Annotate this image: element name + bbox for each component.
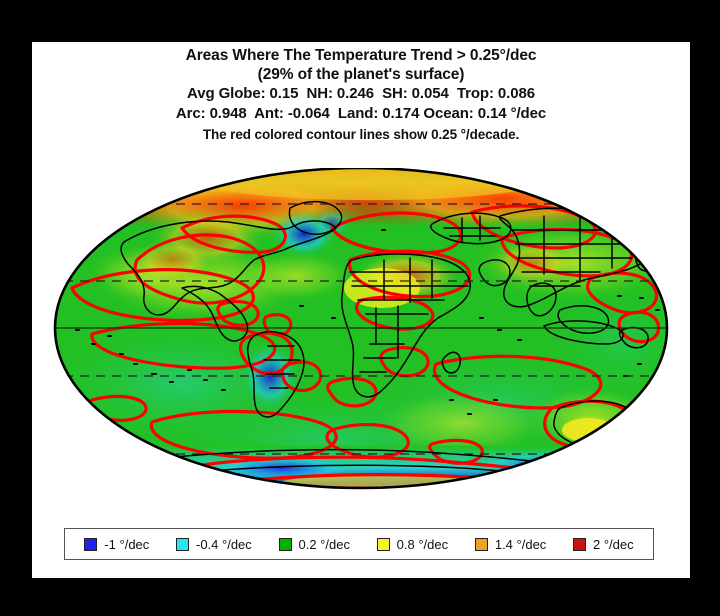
legend-swatch-icon: [84, 538, 97, 551]
legend-swatch-icon: [475, 538, 488, 551]
title-stats-row-1: Avg Globe: 0.15 NH: 0.246 SH: 0.054 Trop…: [32, 84, 690, 104]
legend-item[interactable]: 1.4 °/dec: [475, 537, 546, 552]
legend-swatch-icon: [176, 538, 189, 551]
mollweide-map-svg: [32, 168, 690, 508]
figure-root: Areas Where The Temperature Trend > 0.25…: [0, 0, 720, 616]
legend-label: -1 °/dec: [104, 537, 149, 552]
title-stats-row-2: Arc: 0.948 Ant: -0.064 Land: 0.174 Ocean…: [32, 104, 690, 124]
legend-swatch-icon: [377, 538, 390, 551]
legend-label: 0.2 °/dec: [299, 537, 350, 552]
legend-swatch-icon: [573, 538, 586, 551]
page-title: Areas Where The Temperature Trend > 0.25…: [32, 46, 690, 65]
title-subtitle: (29% of the planet's surface): [32, 65, 690, 84]
legend-item[interactable]: 0.8 °/dec: [377, 537, 448, 552]
legend-label: 2 °/dec: [593, 537, 634, 552]
legend-swatch-icon: [279, 538, 292, 551]
title-block: Areas Where The Temperature Trend > 0.25…: [32, 46, 690, 146]
legend-item[interactable]: 2 °/dec: [573, 537, 634, 552]
legend-item[interactable]: -1 °/dec: [84, 537, 149, 552]
world-map: [32, 168, 690, 508]
legend-item[interactable]: 0.2 °/dec: [279, 537, 350, 552]
figure-panel: Areas Where The Temperature Trend > 0.25…: [32, 42, 690, 578]
legend-label: 1.4 °/dec: [495, 537, 546, 552]
title-contour-note: The red colored contour lines show 0.25 …: [32, 124, 690, 146]
color-legend: -1 °/dec -0.4 °/dec 0.2 °/dec 0.8 °/dec …: [64, 528, 654, 560]
legend-item[interactable]: -0.4 °/dec: [176, 537, 252, 552]
legend-label: -0.4 °/dec: [196, 537, 252, 552]
legend-label: 0.8 °/dec: [397, 537, 448, 552]
